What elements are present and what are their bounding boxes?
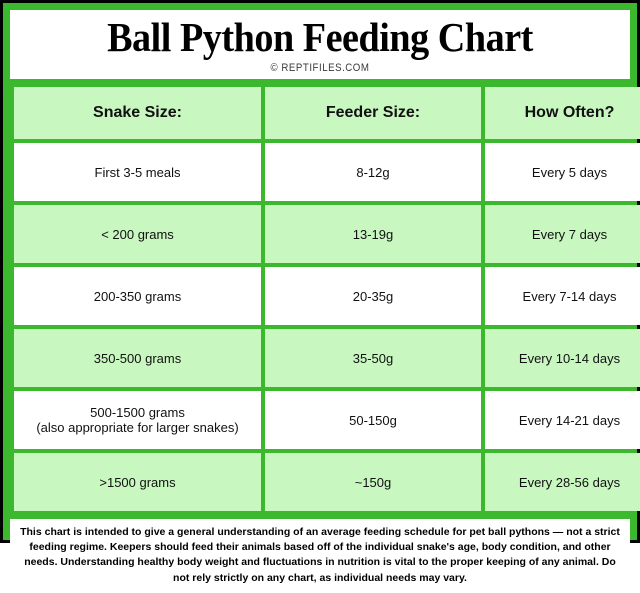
cell-feeder-size: 13-19g [265, 205, 481, 263]
cell-feeder-size: 50-150g [265, 391, 481, 449]
cell-snake-size: First 3-5 meals [14, 143, 261, 201]
column-header-feeder-size: Feeder Size: [265, 87, 481, 139]
cell-how-often: Every 5 days [485, 143, 640, 201]
disclaimer-block: This chart is intended to give a general… [10, 519, 630, 593]
cell-feeder-size: 8-12g [265, 143, 481, 201]
cell-snake-size: 200-350 grams [14, 267, 261, 325]
column-header-how-often: How Often? [485, 87, 640, 139]
cell-feeder-size: 20-35g [265, 267, 481, 325]
title-block: Ball Python Feeding Chart © REPTIFILES.C… [10, 10, 630, 79]
cell-how-often: Every 7 days [485, 205, 640, 263]
page-title: Ball Python Feeding Chart [32, 16, 609, 59]
cell-feeder-size: ~150g [265, 453, 481, 511]
cell-how-often: Every 28-56 days [485, 453, 640, 511]
disclaimer-text: This chart is intended to give a general… [18, 525, 622, 586]
table-row: 350-500 grams 35-50g Every 10-14 days [14, 329, 640, 387]
cell-feeder-size: 35-50g [265, 329, 481, 387]
cell-snake-size: < 200 grams [14, 205, 261, 263]
cell-how-often: Every 14-21 days [485, 391, 640, 449]
table-row: >1500 grams ~150g Every 28-56 days [14, 453, 640, 511]
cell-snake-size: 350-500 grams [14, 329, 261, 387]
cell-how-often: Every 10-14 days [485, 329, 640, 387]
table-row: First 3-5 meals 8-12g Every 5 days [14, 143, 640, 201]
cell-snake-size: 500-1500 grams (also appropriate for lar… [14, 391, 261, 449]
table-row: 200-350 grams 20-35g Every 7-14 days [14, 267, 640, 325]
cell-snake-size: >1500 grams [14, 453, 261, 511]
table-header-row: Snake Size: Feeder Size: How Often? [14, 87, 640, 139]
poster-frame-green: Ball Python Feeding Chart © REPTIFILES.C… [3, 3, 637, 540]
column-header-snake-size: Snake Size: [14, 87, 261, 139]
poster-frame-outer: Ball Python Feeding Chart © REPTIFILES.C… [0, 0, 640, 543]
cell-snake-size-line1: 500-1500 grams [20, 405, 255, 420]
cell-how-often: Every 7-14 days [485, 267, 640, 325]
table-row: 500-1500 grams (also appropriate for lar… [14, 391, 640, 449]
attribution-credit: © REPTIFILES.COM [47, 62, 593, 74]
table-row: < 200 grams 13-19g Every 7 days [14, 205, 640, 263]
feeding-table: Snake Size: Feeder Size: How Often? Firs… [10, 83, 640, 515]
cell-snake-size-line2: (also appropriate for larger snakes) [20, 420, 255, 435]
feeding-table-container: Snake Size: Feeder Size: How Often? Firs… [10, 83, 630, 515]
